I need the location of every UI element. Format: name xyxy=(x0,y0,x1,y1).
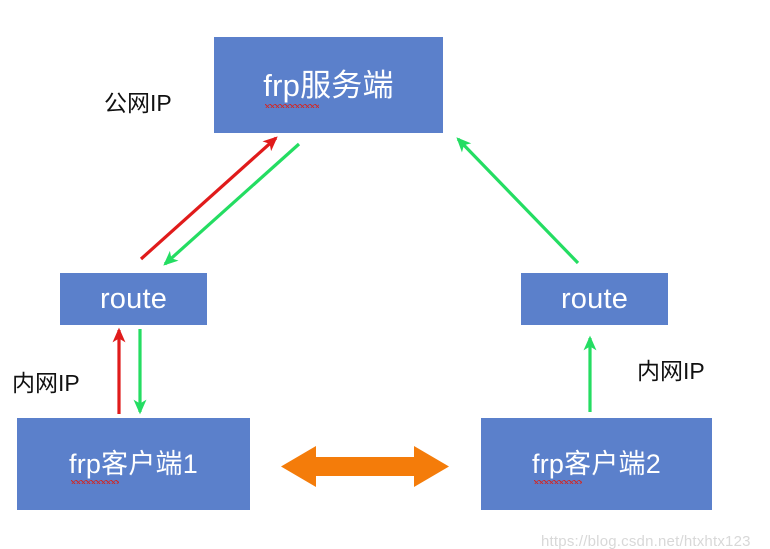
arrow-server-to-route-left xyxy=(165,144,299,264)
label-lan-ip-right: 内网IP xyxy=(637,360,705,383)
node-frp-server-label: frp服务端 xyxy=(263,70,393,101)
node-frp-client-2[interactable]: frp客户端2 xyxy=(481,418,712,510)
node-frp-server[interactable]: frp服务端 xyxy=(214,37,443,133)
watermark: https://blog.csdn.net/htxhtx123 xyxy=(541,533,751,549)
node-frp-client-1-label: frp客户端1 xyxy=(69,451,198,478)
node-route-right-label: route xyxy=(561,285,628,314)
node-route-left-label: route xyxy=(100,285,167,314)
label-lan-ip-left: 内网IP xyxy=(12,372,80,395)
arrow-client1-client2 xyxy=(281,446,449,487)
node-route-right[interactable]: route xyxy=(521,273,668,325)
node-frp-client-1[interactable]: frp客户端1 xyxy=(17,418,250,510)
arrow-route-right-to-server xyxy=(458,139,578,263)
diagram-canvas: frp服务端 route route frp客户端1 frp客户端2 公网IP … xyxy=(0,0,770,549)
node-route-left[interactable]: route xyxy=(60,273,207,325)
node-frp-client-2-label: frp客户端2 xyxy=(532,451,661,478)
label-public-ip: 公网IP xyxy=(104,92,172,115)
arrow-route-left-to-server xyxy=(141,138,276,259)
